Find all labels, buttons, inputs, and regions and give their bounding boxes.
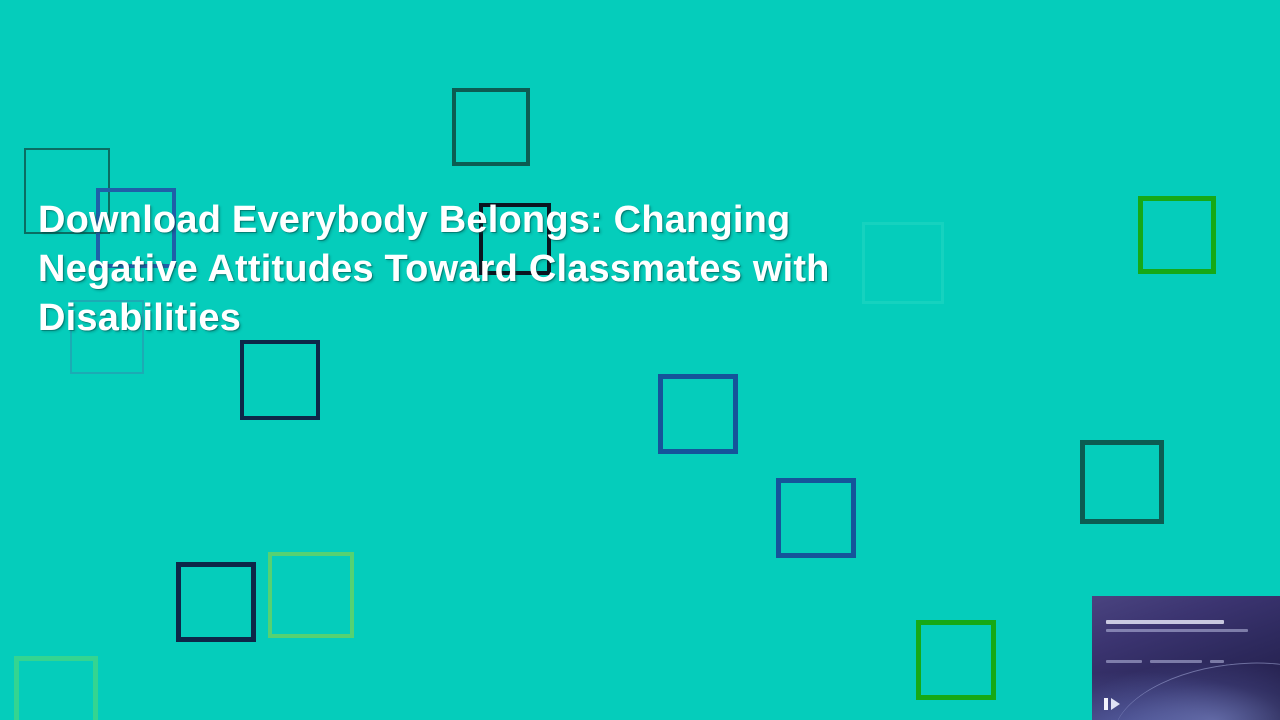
square-right-bright-green — [1138, 196, 1216, 274]
play-icon-bar — [1104, 698, 1108, 710]
square-lower-center-blue — [776, 478, 856, 558]
thumbnail-text-line — [1106, 660, 1142, 663]
square-bottom-light-green — [268, 552, 354, 638]
thumbnail-text-line — [1106, 629, 1248, 632]
decorative-squares-layer — [0, 0, 1280, 720]
square-bottom-right-green — [916, 620, 996, 700]
promo-banner: Download Everybody Belongs: Changing Neg… — [0, 0, 1280, 720]
square-center-blue — [658, 374, 738, 454]
square-bottom-navy — [176, 562, 256, 642]
play-icon[interactable] — [1104, 697, 1121, 711]
square-top-center-dark-teal — [452, 88, 530, 166]
square-bottom-left-pale — [14, 656, 98, 720]
thumbnail-text-line — [1106, 620, 1224, 624]
thumbnail-text-line — [1150, 660, 1202, 663]
square-mid-left-navy — [240, 340, 320, 420]
book-cover-thumbnail[interactable] — [1092, 596, 1280, 720]
thumbnail-text-line — [1210, 660, 1224, 663]
play-icon-triangle — [1111, 698, 1120, 710]
page-title: Download Everybody Belongs: Changing Neg… — [38, 196, 938, 343]
square-right-dark-teal — [1080, 440, 1164, 524]
